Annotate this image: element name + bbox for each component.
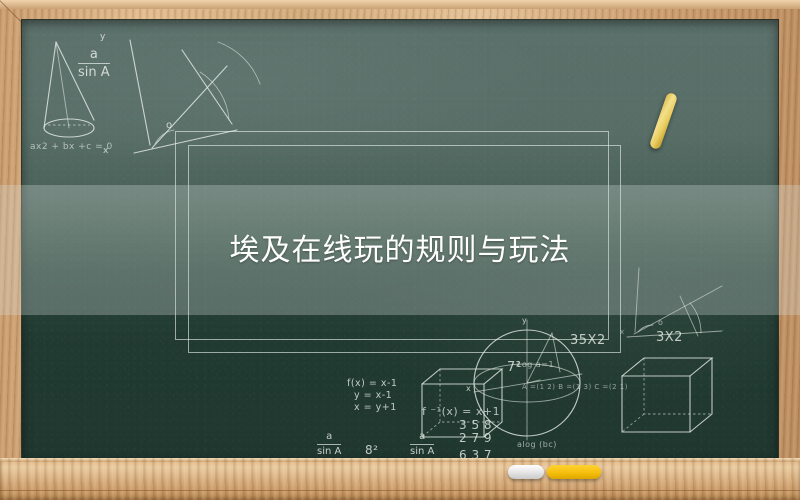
fraction-bar [410, 444, 434, 445]
frame-top-highlight [0, 0, 800, 9]
cube-drawing-right [622, 358, 712, 432]
fraction-numerator: a [410, 432, 434, 442]
fraction-denominator: sin A [317, 447, 341, 457]
white-chalk-stick-icon[interactable] [508, 465, 544, 479]
angle-axes-drawing-right [627, 268, 722, 337]
chalk-fraction-a-sina-bottomcenter: a sin A [410, 432, 434, 457]
chalk-fraction-a-sina-topleft: a sin A [78, 48, 110, 79]
fraction-bar [317, 444, 341, 445]
ledge-wood-grain [0, 458, 800, 500]
fraction-denominator: sin A [410, 447, 434, 457]
fraction-bar [78, 63, 110, 64]
chalk-ledge [0, 458, 800, 500]
fraction-numerator: a [78, 48, 110, 61]
fraction-denominator: sin A [78, 66, 110, 79]
chalk-fraction-a-sina-bottomleft: a sin A [317, 432, 341, 457]
cube-drawing-center [422, 369, 502, 437]
page-title: 埃及在线玩的规则与玩法 [0, 227, 800, 275]
ledge-edge-line [0, 490, 800, 491]
arc-decoration [218, 42, 260, 84]
slide-canvas: y x o a sin A ax2 + bx +c = 0 f(x) = x-1… [0, 0, 800, 500]
fraction-numerator: a [317, 432, 341, 442]
yellow-chalk-stick-icon[interactable] [547, 465, 601, 479]
